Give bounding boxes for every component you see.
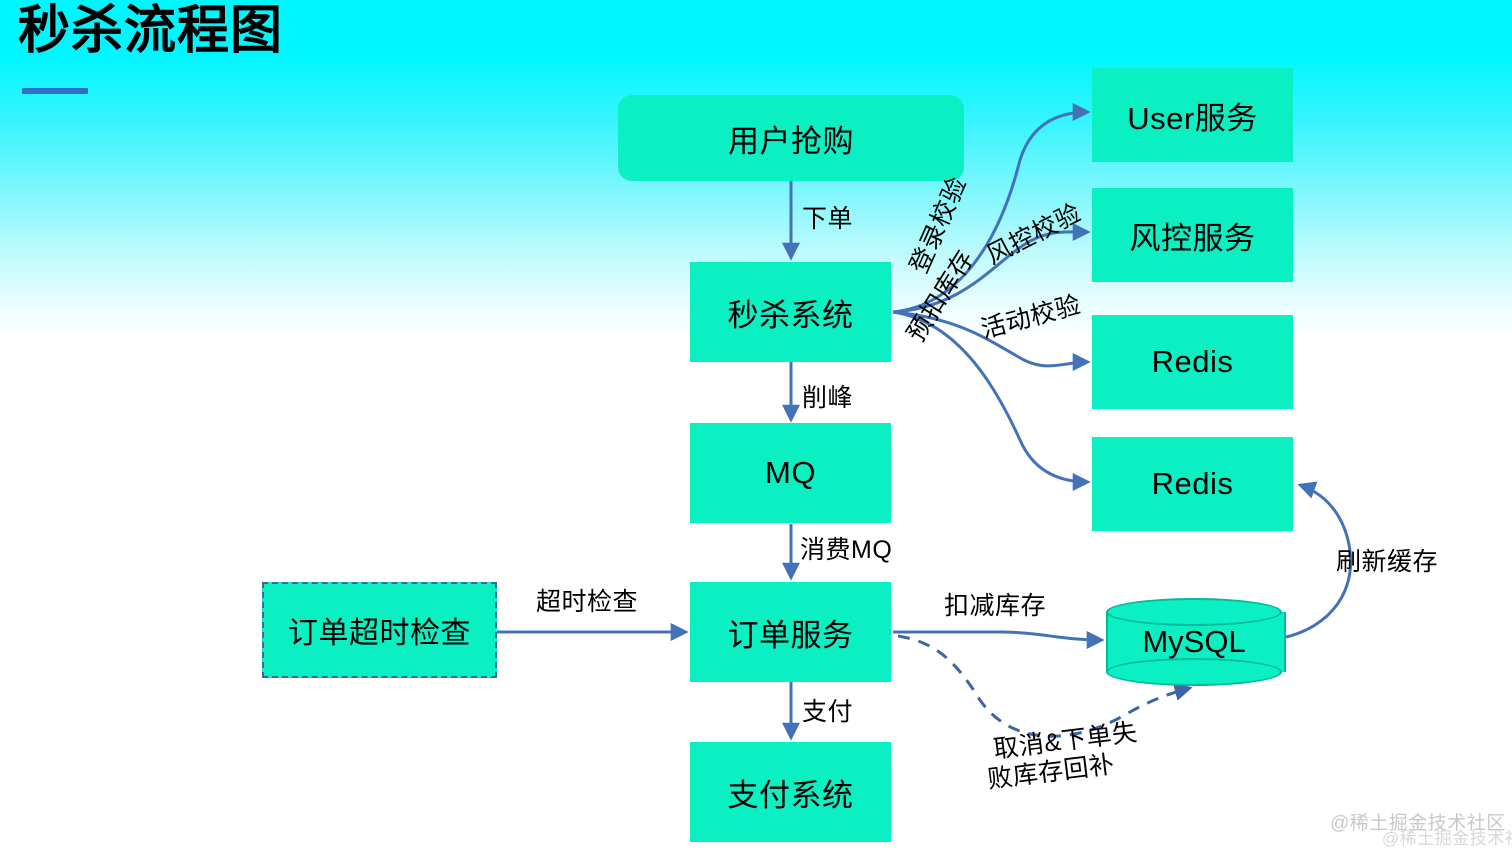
edge-label-activity-check: 活动校验: [978, 291, 1084, 346]
node-order-timeout-check[interactable]: 订单超时检查: [262, 582, 497, 678]
edge-label-peak-shaving: 削峰: [802, 384, 853, 414]
edge-label-timeout-check: 超时检查: [536, 588, 638, 618]
node-mq[interactable]: MQ: [690, 423, 891, 523]
node-order-service[interactable]: 订单服务: [690, 582, 891, 682]
edge-label-deduct-stock: 扣减库存: [944, 592, 1046, 622]
flowchart-canvas: 秒杀流程图: [0, 0, 1512, 854]
edge-label-risk-check: 风控校验: [982, 199, 1086, 272]
node-risk-service[interactable]: 风控服务: [1092, 188, 1293, 282]
node-user-service[interactable]: User服务: [1092, 68, 1293, 162]
node-seckill-system[interactable]: 秒杀系统: [690, 262, 891, 362]
node-label: Redis: [1152, 344, 1234, 380]
node-label: 秒杀系统: [728, 290, 854, 335]
node-label: User服务: [1127, 93, 1257, 138]
node-user-grab[interactable]: 用户抢购: [618, 95, 964, 181]
watermark-secondary: @稀土掘金技术社区: [1382, 824, 1512, 849]
edge-label-refresh-cache: 刷新缓存: [1336, 548, 1438, 578]
node-label: Redis: [1152, 466, 1234, 502]
node-mysql[interactable]: MySQL: [1106, 598, 1282, 686]
node-redis-2[interactable]: Redis: [1092, 437, 1293, 531]
node-redis-1[interactable]: Redis: [1092, 315, 1293, 409]
node-label: 支付系统: [728, 770, 854, 815]
node-payment-system[interactable]: 支付系统: [690, 742, 891, 842]
node-label: MySQL: [1106, 598, 1282, 686]
edge-label-consume-mq: 消费MQ: [800, 536, 892, 566]
edge-label-pay: 支付: [802, 698, 853, 728]
node-label: 订单服务: [728, 610, 854, 655]
node-label: 用户抢购: [728, 116, 854, 161]
page-title: 秒杀流程图: [18, 4, 283, 59]
node-label: MQ: [765, 455, 816, 491]
edge-deduct-stock: [893, 632, 1102, 640]
node-label: 订单超时检查: [288, 608, 471, 652]
node-label: 风控服务: [1130, 213, 1256, 258]
edge-label-order: 下单: [802, 205, 853, 235]
title-underline-accent: [22, 88, 88, 94]
